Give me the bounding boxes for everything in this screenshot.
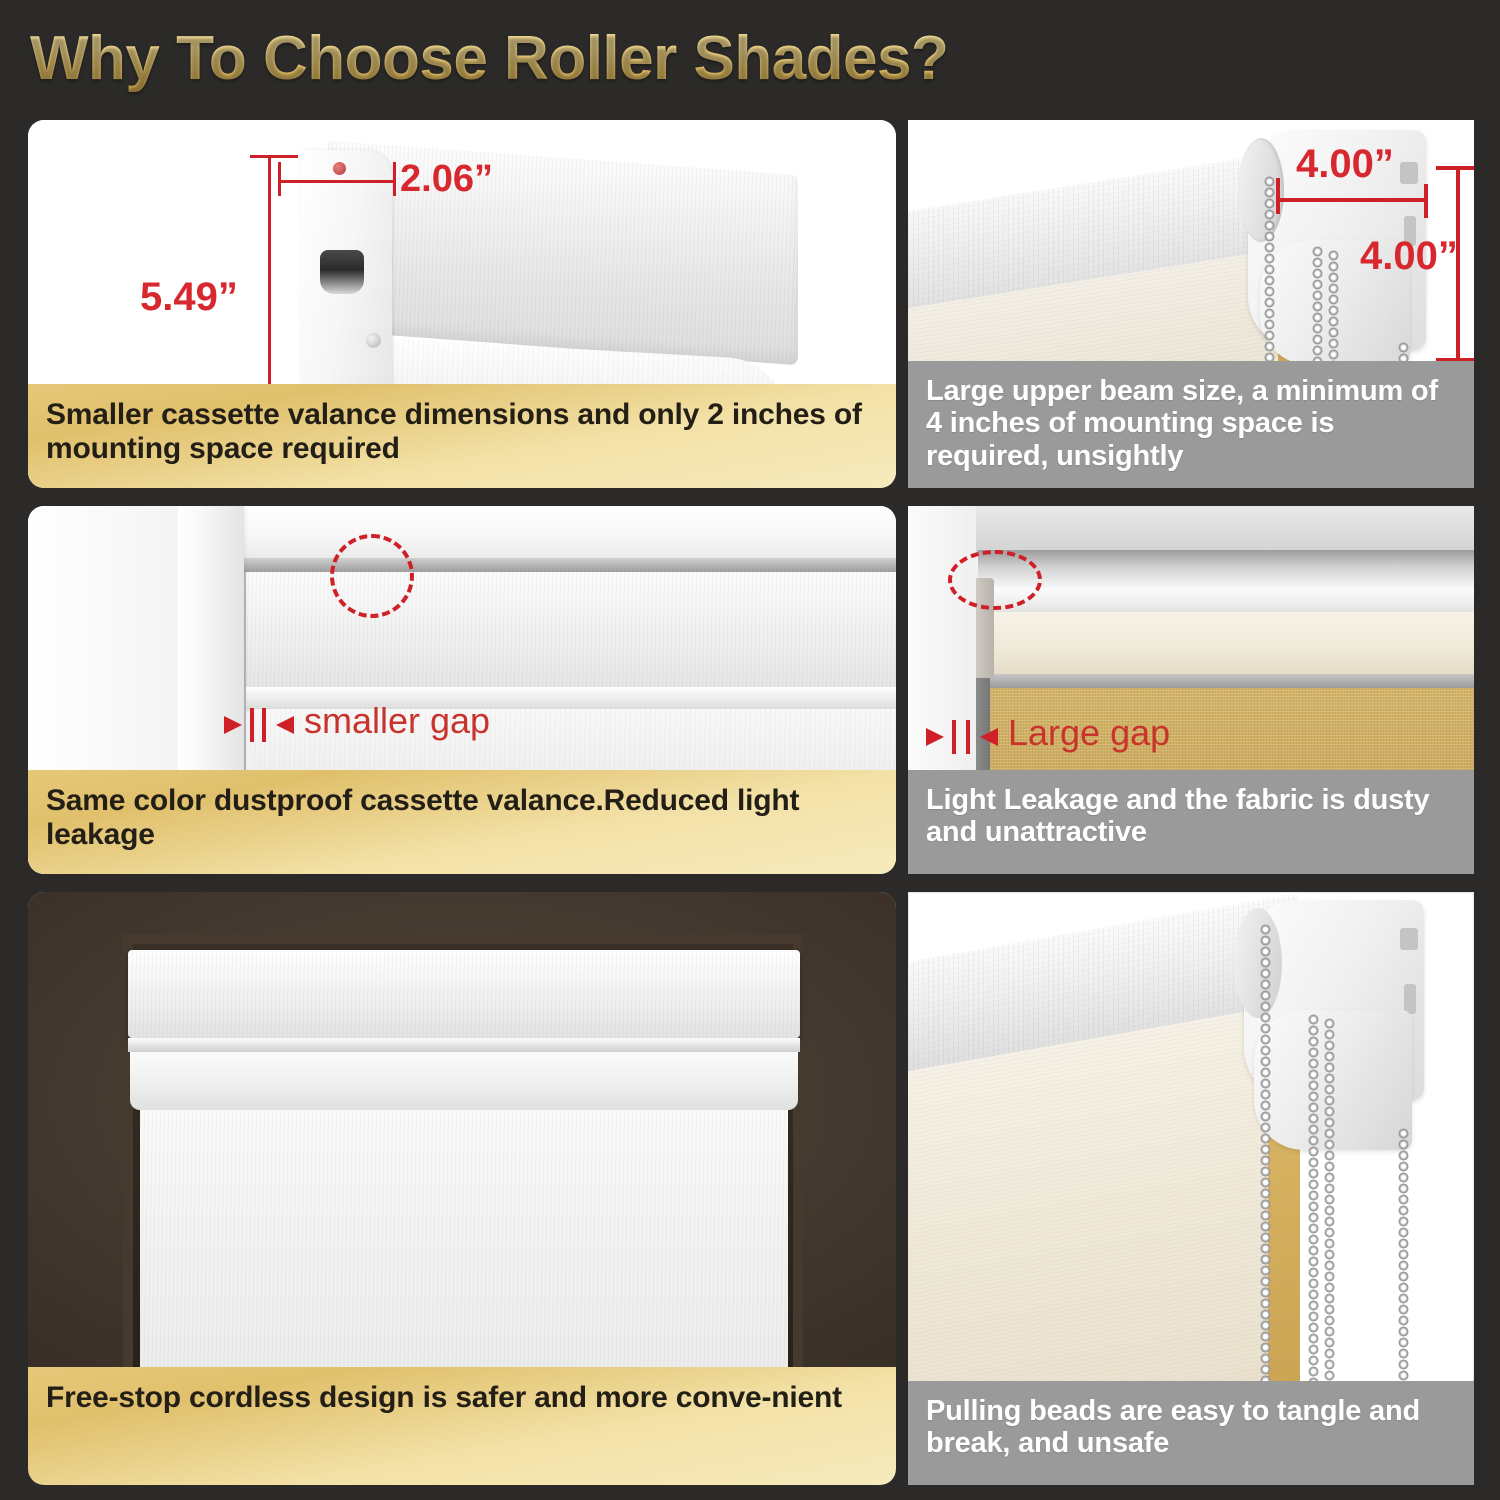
panel-large-upper-beam: 4.00” 4.00” Large upper beam size, a min… [908,120,1474,488]
panel-caption: Pulling beads are easy to tangle and bre… [908,1381,1474,1485]
beam-height-label: 4.00” [1360,234,1458,279]
bead-chain [1308,1014,1319,1386]
width-tick-right [393,162,396,196]
smaller-gap-label: smaller gap [304,700,490,742]
panel-pulling-beads: Pulling beads are easy to tangle and bre… [908,892,1474,1485]
gap-marker-b [262,708,266,742]
gap-arrow-right [980,728,998,746]
bead-chain [1324,1018,1335,1386]
comparison-grid: 5.49” 2.06” Smaller cassette valance dim… [28,120,1474,1485]
bead-chain [1398,1128,1409,1386]
panel-caption: Free-stop cordless design is safer and m… [28,1367,896,1485]
width-dimension-label: 2.06” [400,158,493,201]
large-gap-label: Large gap [1008,712,1170,754]
height-dimension-label: 5.49” [140,275,238,320]
beam-height-tick-top [1436,166,1474,170]
panel-cassette-dimensions: 5.49” 2.06” Smaller cassette valance dim… [28,120,896,488]
gap-marker-a [250,708,254,742]
gap-arrow-right [276,716,294,734]
page-title: Why To Choose Roller Shades? [30,14,1470,102]
gap-marker-a [952,720,956,754]
gap-marker-b [966,720,970,754]
highlight-circle [330,534,414,618]
bead-chain [1260,924,1271,1384]
beam-width-tick-left [1276,178,1280,214]
gap-arrow-left [926,728,944,746]
gap-arrow-left [224,716,242,734]
panel-dustproof-valance: smaller gap Same color dustproof cassett… [28,506,896,874]
beam-width-label: 4.00” [1296,142,1394,187]
panel-light-leakage: Large gap Light Leakage and the fabric i… [908,506,1474,874]
beam-width-tick-right [1424,184,1428,218]
page-title-text: Why To Choose Roller Shades? [30,23,948,94]
highlight-circle [948,550,1042,610]
height-tick-top [250,155,298,158]
panel-caption: Large upper beam size, a minimum of 4 in… [908,361,1474,488]
panel-caption: Light Leakage and the fabric is dusty an… [908,770,1474,874]
panel-cordless-design: Free-stop cordless design is safer and m… [28,892,896,1485]
panel-caption: Same color dustproof cassette valance.Re… [28,770,896,874]
width-tick-left [278,162,281,196]
width-dimension-line [278,180,396,183]
beam-width-line [1276,198,1428,202]
panel-caption: Smaller cassette valance dimensions and … [28,384,896,488]
